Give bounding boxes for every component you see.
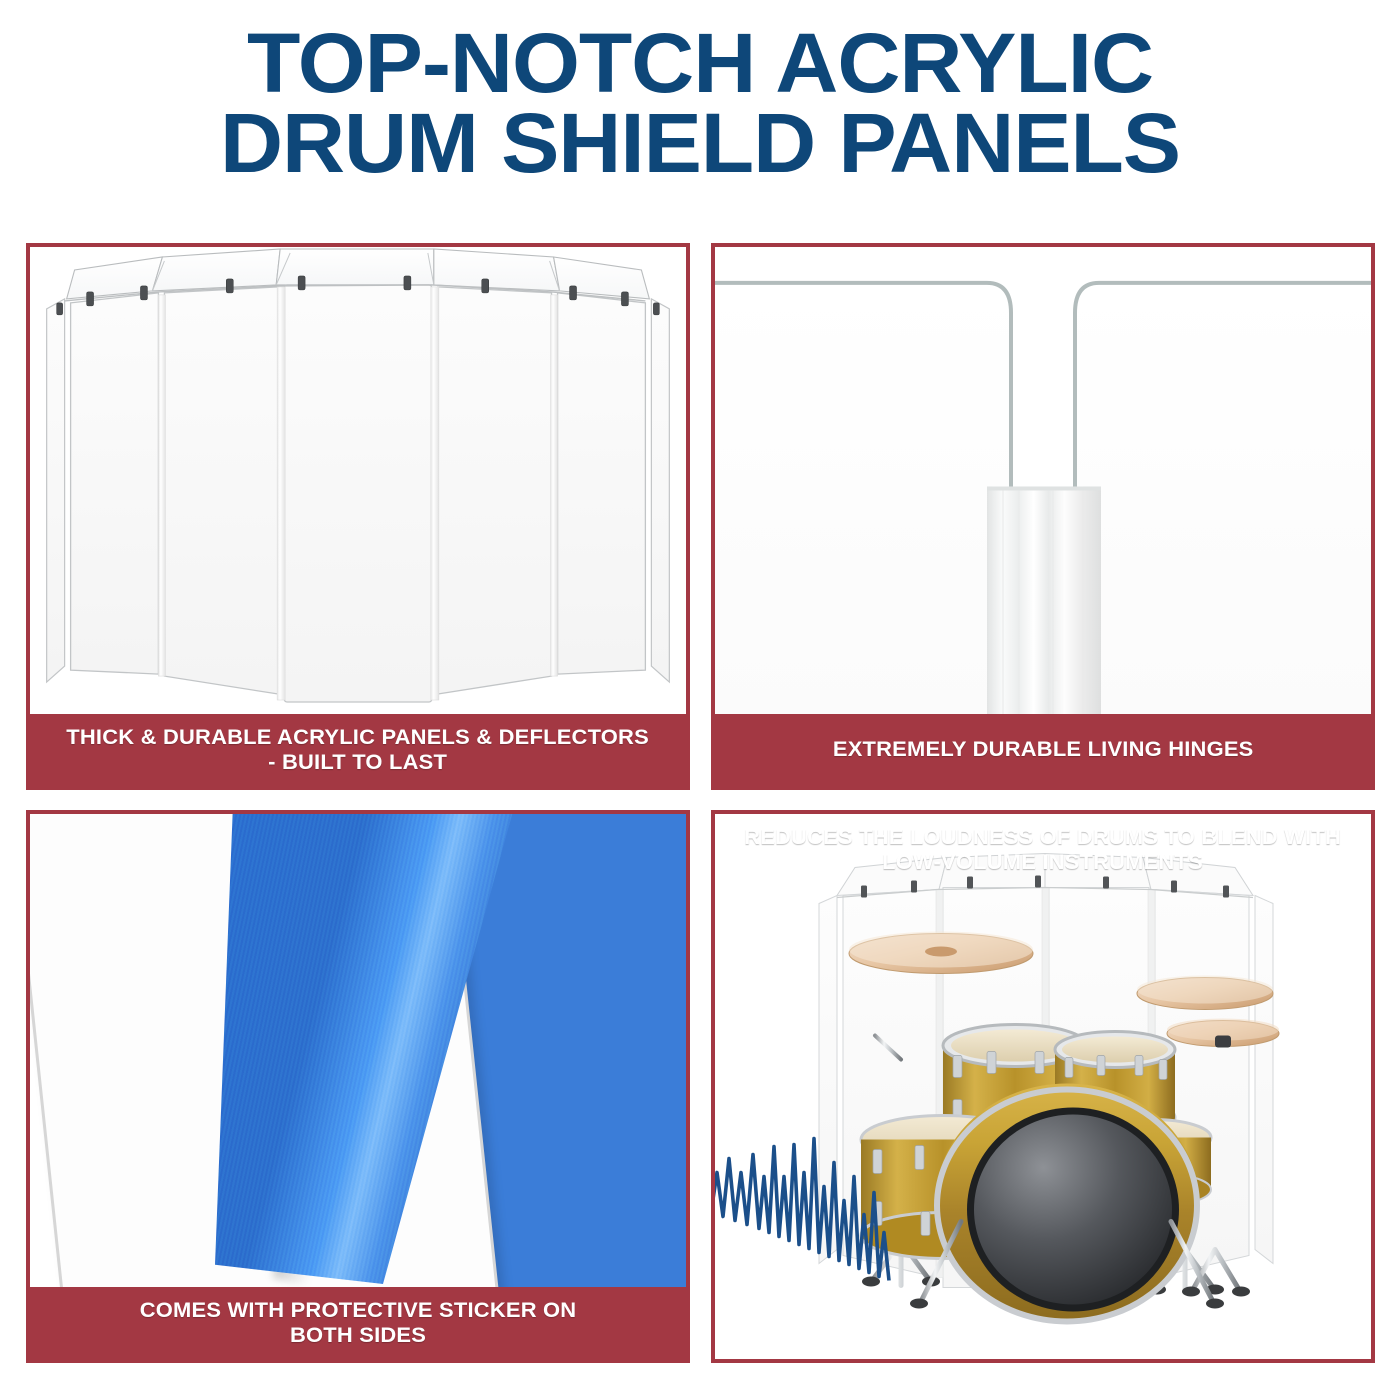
caption-bar-reduces-loudness: REDUCES THE LOUDNESS OF DRUMS TO BLEND W… [715,814,1371,886]
crash-cymbal-left [849,932,1033,974]
feature-card-protective-sticker: COMES WITH PROTECTIVE STICKER ON BOTH SI… [26,810,690,1363]
acrylic-drum-shield-with-deflectors-illustration [30,247,686,714]
crash-cymbal-right [1137,976,1273,1010]
caption-bar-living-hinges: EXTREMELY DURABLE LIVING HINGES [715,714,1371,786]
page-title: TOP-NOTCH ACRYLIC DRUM SHIELD PANELS [0,24,1400,184]
caption-bar-protective-sticker: COMES WITH PROTECTIVE STICKER ON BOTH SI… [30,1287,686,1359]
hinge-column [987,486,1101,714]
page-title-line-1: TOP-NOTCH ACRYLIC [0,24,1400,104]
hi-hat-cymbal [1167,1019,1279,1048]
feature-card-reduces-loudness: REDUCES THE LOUDNESS OF DRUMS TO BLEND W… [711,810,1375,1363]
feature-card-living-hinges: EXTREMELY DURABLE LIVING HINGES [711,243,1375,790]
feature-card-grid: THICK & DURABLE ACRYLIC PANELS & DEFLECT… [26,243,1375,1363]
page-title-line-2: DRUM SHIELD PANELS [0,104,1400,184]
caption-text: REDUCES THE LOUDNESS OF DRUMS TO BLEND W… [745,825,1342,876]
shield-svg [30,247,686,714]
caption-bar-acrylic-panels: THICK & DURABLE ACRYLIC PANELS & DEFLECT… [30,714,686,786]
caption-text: COMES WITH PROTECTIVE STICKER ON BOTH SI… [140,1298,577,1349]
drums-svg [715,814,1371,1359]
bass-drum [935,1084,1199,1322]
feature-card-acrylic-panels: THICK & DURABLE ACRYLIC PANELS & DEFLECT… [26,243,690,790]
caption-text: THICK & DURABLE ACRYLIC PANELS & DEFLECT… [67,725,650,776]
caption-text: EXTREMELY DURABLE LIVING HINGES [833,737,1254,762]
blue-protective-film-peel-illustration [30,814,686,1287]
hinge-svg [715,247,1371,714]
drum-kit-inside-shield-with-soundwave-illustration [715,814,1371,1359]
living-hinge-closeup-illustration [715,247,1371,714]
